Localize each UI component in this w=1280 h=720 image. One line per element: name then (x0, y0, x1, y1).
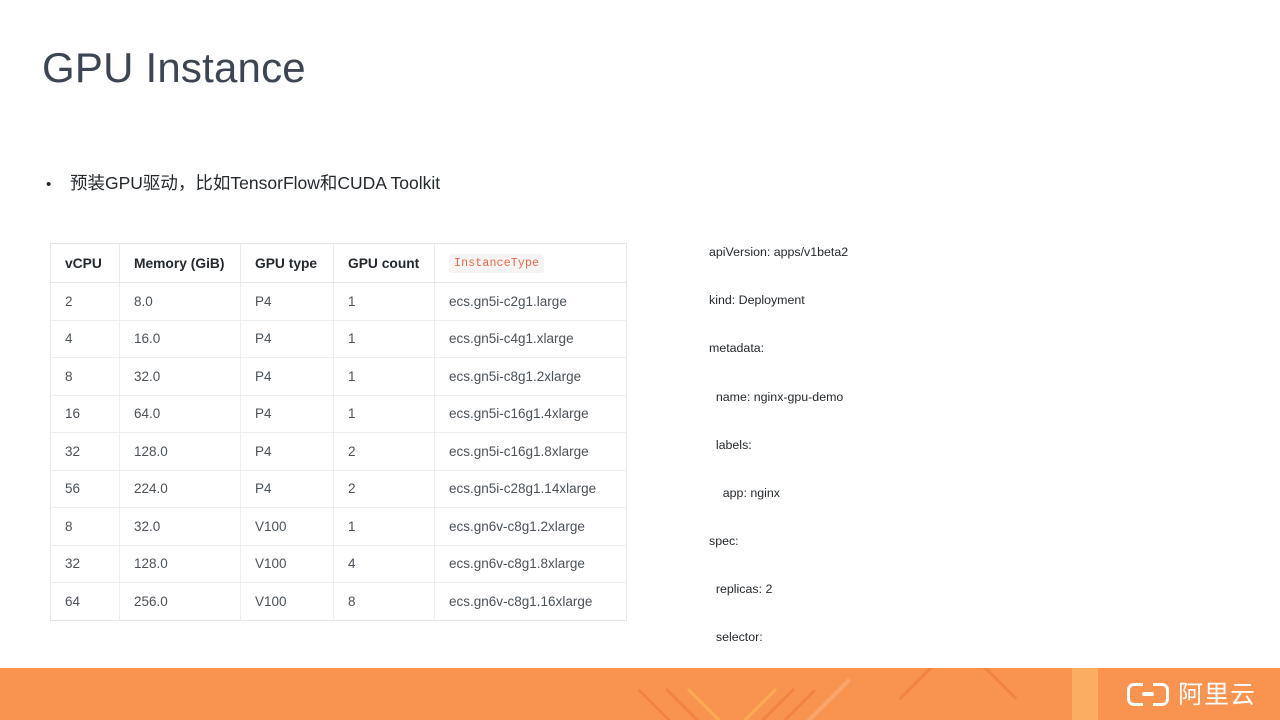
column-header-label: GPU type (255, 256, 317, 271)
brand-logo: 阿里云 (1127, 668, 1256, 720)
yaml-line: name: nginx-gpu-demo (709, 389, 1129, 405)
column-header-memory: Memory (GiB) (120, 244, 241, 283)
cell-memory: 256.0 (120, 583, 241, 621)
column-header-code-badge: InstanceType (449, 254, 544, 273)
list-item: • 预装GPU驱动，比如TensorFlow和CUDA Toolkit (46, 170, 666, 197)
cell-memory: 16.0 (120, 320, 241, 358)
table-row: 8 32.0 V100 1 ecs.gn6v-c8g1.2xlarge (51, 508, 627, 546)
yaml-line: kind: Deployment (709, 292, 1129, 308)
table-header-row: vCPU Memory (GiB) GPU type GPU count Ins… (51, 244, 627, 283)
cell-instance-type: ecs.gn6v-c8g1.2xlarge (435, 508, 627, 546)
vertical-band-decoration (1072, 668, 1098, 720)
cell-gpu-type: P4 (241, 320, 334, 358)
bullet-marker-icon: • (46, 174, 70, 197)
yaml-manifest: apiVersion: apps/v1beta2 kind: Deploymen… (709, 212, 1129, 720)
table-row: 4 16.0 P4 1 ecs.gn5i-c4g1.xlarge (51, 320, 627, 358)
cell-gpu-type: V100 (241, 583, 334, 621)
cell-instance-type: ecs.gn5i-c2g1.large (435, 283, 627, 321)
cell-vcpu: 8 (51, 508, 120, 546)
cell-gpu-count: 1 (334, 320, 435, 358)
alibaba-cloud-bracket-icon (1127, 683, 1169, 706)
cell-vcpu: 16 (51, 395, 120, 433)
column-header-gpu-count: GPU count (334, 244, 435, 283)
table-row: 8 32.0 P4 1 ecs.gn5i-c8g1.2xlarge (51, 358, 627, 396)
cell-vcpu: 32 (51, 433, 120, 471)
yaml-line: apiVersion: apps/v1beta2 (709, 244, 1129, 260)
cell-gpu-count: 2 (334, 433, 435, 471)
cell-instance-type: ecs.gn5i-c28g1.14xlarge (435, 470, 627, 508)
cell-gpu-type: V100 (241, 508, 334, 546)
table-row: 32 128.0 P4 2 ecs.gn5i-c16g1.8xlarge (51, 433, 627, 471)
list-item-label: 预装GPU驱动，比如TensorFlow和CUDA Toolkit (70, 170, 666, 196)
cell-memory: 128.0 (120, 433, 241, 471)
column-header-label: GPU count (348, 256, 419, 271)
cell-memory: 8.0 (120, 283, 241, 321)
cell-vcpu: 8 (51, 358, 120, 396)
yaml-line: spec: (709, 533, 1129, 549)
cell-memory: 32.0 (120, 358, 241, 396)
cell-instance-type: ecs.gn6v-c8g1.16xlarge (435, 583, 627, 621)
cell-gpu-count: 8 (334, 583, 435, 621)
brand-logo-label: 阿里云 (1178, 682, 1256, 707)
slide-canvas: GPU Instance • 预装GPU驱动，比如TensorFlow和CUDA… (0, 0, 1280, 720)
table-row: 2 8.0 P4 1 ecs.gn5i-c2g1.large (51, 283, 627, 321)
cell-gpu-type: P4 (241, 470, 334, 508)
cell-vcpu: 64 (51, 583, 120, 621)
footer-bar: 阿里云 (0, 668, 1280, 720)
cell-instance-type: ecs.gn6v-c8g1.8xlarge (435, 545, 627, 583)
cell-gpu-count: 1 (334, 395, 435, 433)
column-header-gpu-type: GPU type (241, 244, 334, 283)
cell-instance-type: ecs.gn5i-c16g1.8xlarge (435, 433, 627, 471)
cell-gpu-count: 1 (334, 358, 435, 396)
column-header-vcpu: vCPU (51, 244, 120, 283)
cell-gpu-type: P4 (241, 395, 334, 433)
cell-gpu-count: 4 (334, 545, 435, 583)
table-row: 16 64.0 P4 1 ecs.gn5i-c16g1.4xlarge (51, 395, 627, 433)
cell-gpu-type: P4 (241, 358, 334, 396)
yaml-line: labels: (709, 437, 1129, 453)
cell-gpu-count: 2 (334, 470, 435, 508)
chevron-decoration-icon (899, 668, 1018, 720)
bullet-list: • 预装GPU驱动，比如TensorFlow和CUDA Toolkit (46, 170, 666, 197)
yaml-line: app: nginx (709, 485, 1129, 501)
cell-memory: 64.0 (120, 395, 241, 433)
cell-gpu-count: 1 (334, 508, 435, 546)
cell-instance-type: ecs.gn5i-c8g1.2xlarge (435, 358, 627, 396)
table-row: 32 128.0 V100 4 ecs.gn6v-c8g1.8xlarge (51, 545, 627, 583)
cell-vcpu: 56 (51, 470, 120, 508)
yaml-line: selector: (709, 629, 1129, 645)
chevron-decoration-icon (638, 668, 816, 720)
page-title: GPU Instance (42, 44, 306, 92)
cell-instance-type: ecs.gn5i-c4g1.xlarge (435, 320, 627, 358)
cell-gpu-type: P4 (241, 433, 334, 471)
column-header-instance-type: InstanceType (435, 244, 627, 283)
cell-gpu-count: 1 (334, 283, 435, 321)
cell-memory: 224.0 (120, 470, 241, 508)
cell-vcpu: 32 (51, 545, 120, 583)
table-row: 56 224.0 P4 2 ecs.gn5i-c28g1.14xlarge (51, 470, 627, 508)
cell-gpu-type: V100 (241, 545, 334, 583)
yaml-line: replicas: 2 (709, 581, 1129, 597)
gpu-instance-table: vCPU Memory (GiB) GPU type GPU count Ins… (50, 243, 627, 621)
cell-gpu-type: P4 (241, 283, 334, 321)
yaml-line: metadata: (709, 340, 1129, 356)
cell-memory: 128.0 (120, 545, 241, 583)
cell-vcpu: 4 (51, 320, 120, 358)
cell-memory: 32.0 (120, 508, 241, 546)
cell-instance-type: ecs.gn5i-c16g1.4xlarge (435, 395, 627, 433)
column-header-label: Memory (GiB) (134, 256, 224, 271)
cell-vcpu: 2 (51, 283, 120, 321)
table-row: 64 256.0 V100 8 ecs.gn6v-c8g1.16xlarge (51, 583, 627, 621)
column-header-label: vCPU (65, 256, 102, 271)
